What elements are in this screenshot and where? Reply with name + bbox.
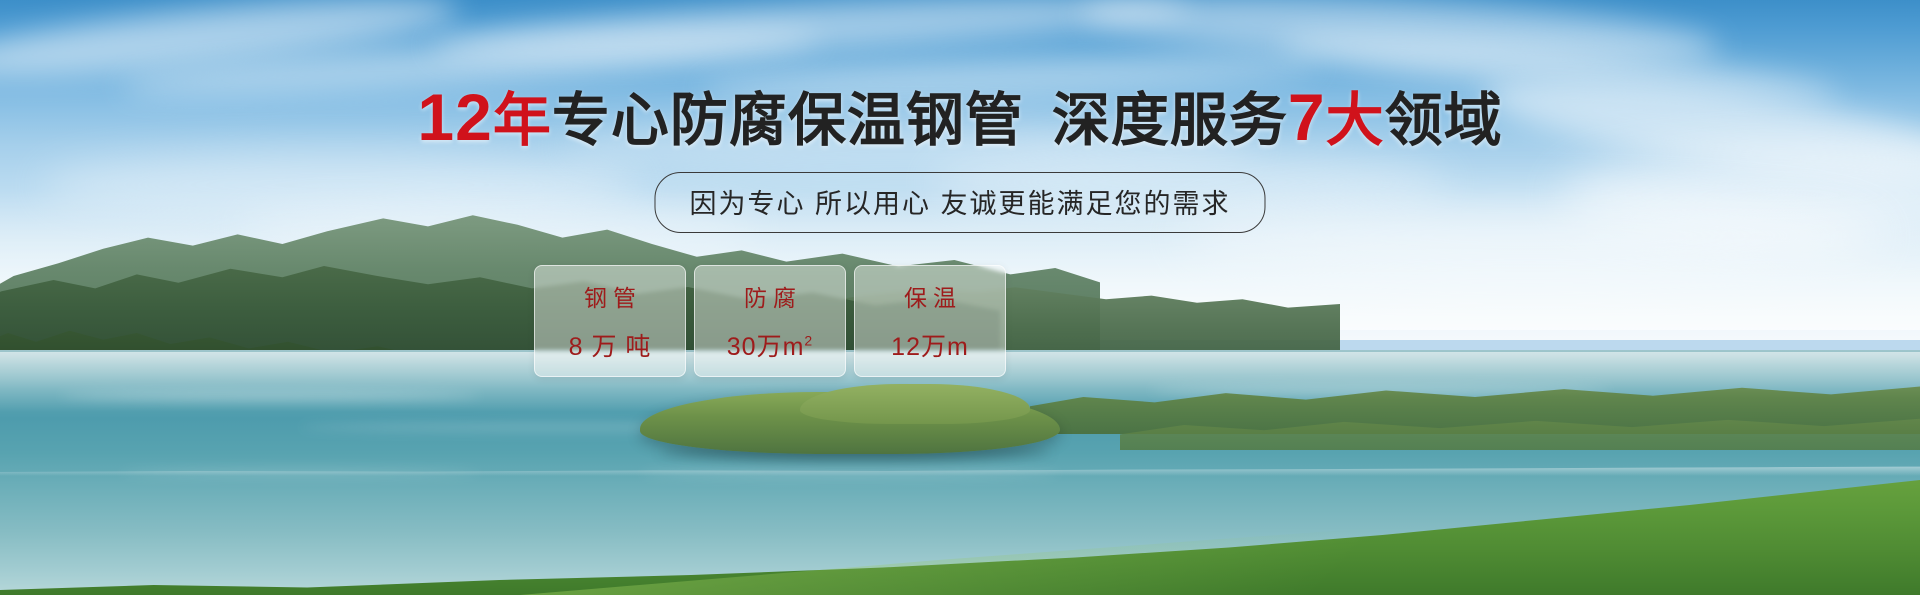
headline-fields-measure: 大 [1326, 88, 1385, 153]
water-ripple [60, 392, 480, 399]
stat-card-value: 8 万 吨 [569, 327, 652, 363]
subtitle-text: 因为专心 所以用心 友诚更能满足您的需求 [689, 189, 1230, 219]
stat-card-label: 防腐 [738, 279, 802, 313]
headline-years-unit: 年 [493, 88, 552, 153]
page-title: 12年专心防腐保温钢管深度服务7大领域 [0, 86, 1920, 152]
headline-fields-word: 领域 [1385, 88, 1503, 153]
stat-card-value-text: 30万m [727, 333, 805, 361]
stat-card-value-superscript: 2 [804, 333, 813, 349]
stat-card-value: 12万m [891, 327, 969, 363]
stat-card-anticorrosion[interactable]: 防腐 30万m2 [694, 265, 846, 377]
stat-card-steel-pipe[interactable]: 钢管 8 万 吨 [534, 265, 686, 377]
stat-card-value-text: 8 万 吨 [569, 333, 652, 361]
headline-fields-number: 7 [1288, 80, 1326, 154]
stat-card-label: 钢管 [578, 279, 642, 313]
stat-card-label: 保温 [898, 279, 962, 313]
stats-card-group: 钢管 8 万 吨 防腐 30万m2 保温 12万m [534, 265, 1006, 377]
stat-card-value-text: 12万m [891, 333, 969, 361]
headline-main-phrase: 专心防腐保温钢管 [552, 88, 1024, 153]
subtitle-pill: 因为专心 所以用心 友诚更能满足您的需求 [654, 172, 1265, 233]
stat-card-value: 30万m2 [727, 327, 813, 363]
headline-service-phrase: 深度服务 [1052, 88, 1288, 153]
stat-card-insulation[interactable]: 保温 12万m [854, 265, 1006, 377]
hero-banner: 12年专心防腐保温钢管深度服务7大领域 因为专心 所以用心 友诚更能满足您的需求… [0, 0, 1920, 595]
grassy-island-crest [800, 384, 1030, 424]
headline-years-number: 12 [417, 80, 492, 154]
